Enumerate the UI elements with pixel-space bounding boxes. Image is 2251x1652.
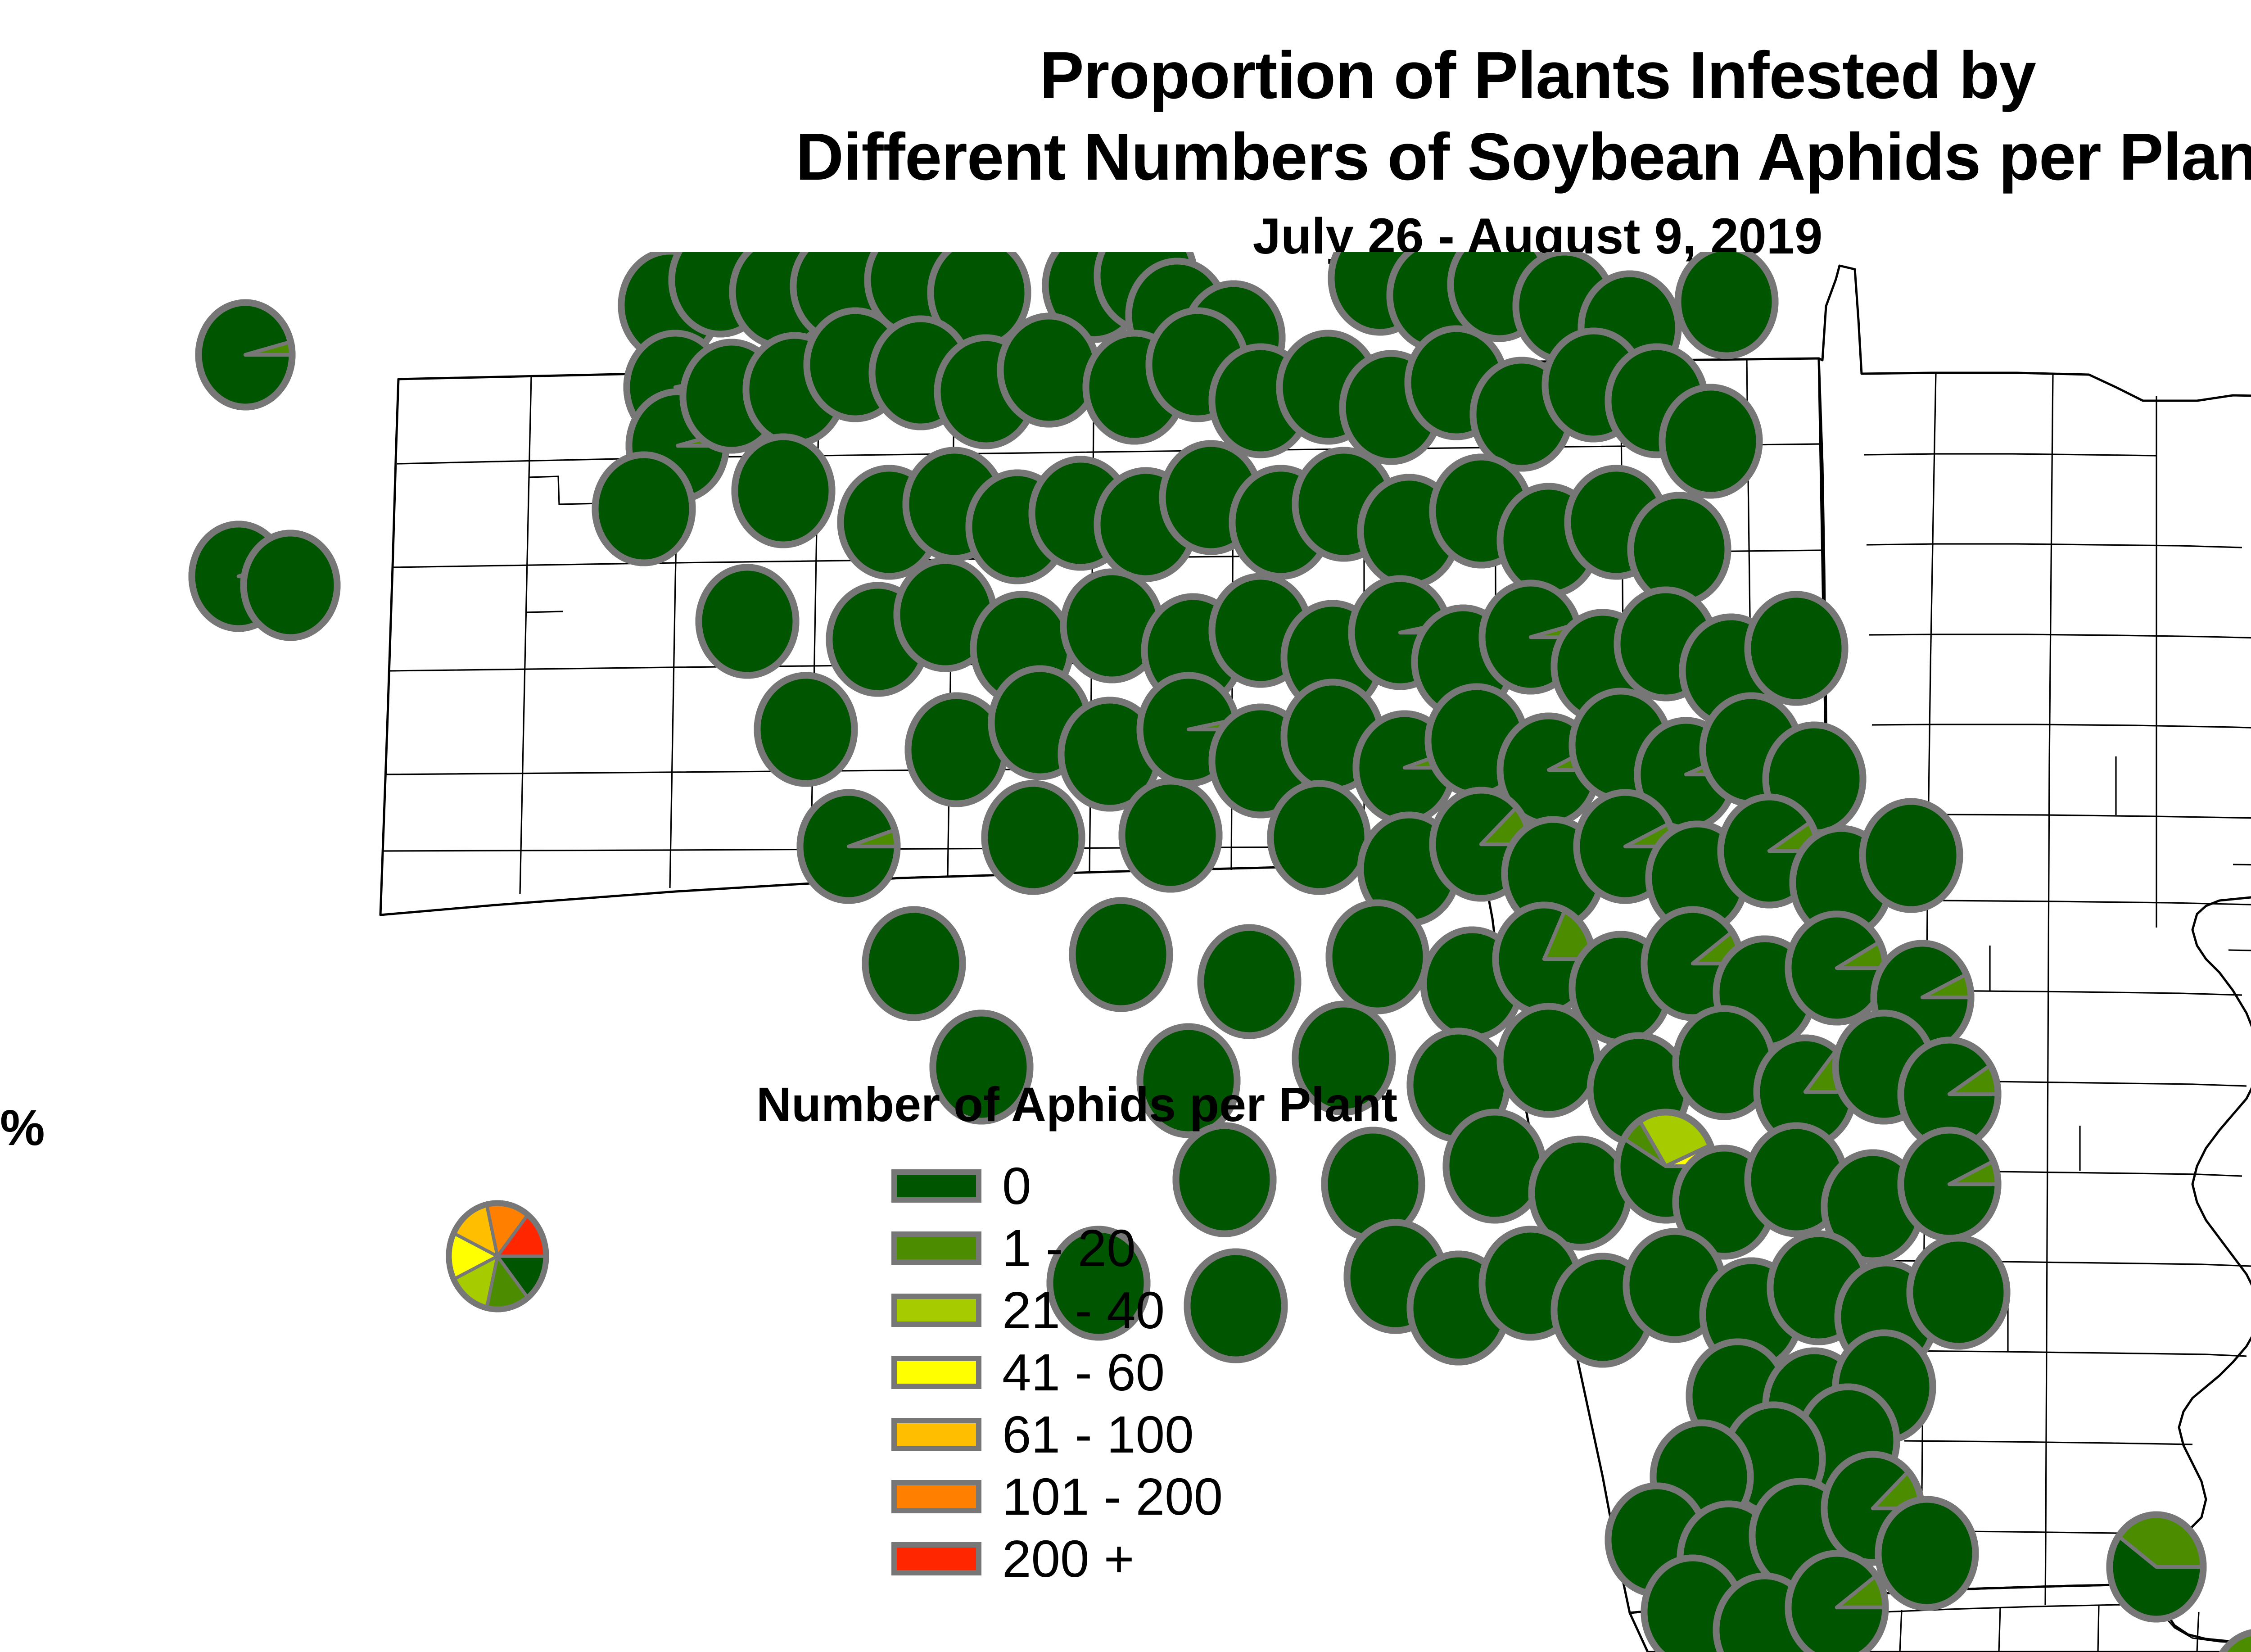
legend-swatch-1 — [891, 1231, 981, 1265]
legend-label-1: 1 - 20 — [1002, 1222, 1136, 1274]
legend-swatch-5 — [891, 1480, 981, 1513]
legend-swatch-4 — [891, 1418, 981, 1451]
legend-label-3: 41 - 60 — [1002, 1346, 1165, 1399]
legend-swatch-2 — [891, 1294, 981, 1327]
legend-swatch-6 — [891, 1542, 981, 1575]
legend-label-5: 101 - 200 — [1002, 1471, 1223, 1523]
legend-item[interactable]: 21 - 40 — [891, 1279, 1223, 1341]
legend-swatch-0 — [891, 1169, 981, 1203]
legend-label-6: 200 + — [1002, 1533, 1135, 1585]
legend-label-0: 0 — [1002, 1160, 1031, 1212]
legend-item[interactable]: 41 - 60 — [891, 1341, 1223, 1403]
legend-item[interactable]: 0 — [891, 1155, 1223, 1217]
legend-swatch-3 — [891, 1356, 981, 1389]
sample-pie-key — [441, 1200, 554, 1313]
legend-label-4: 61 - 100 — [1002, 1408, 1194, 1461]
chart-title: Proportion of Plants Infested by Differe… — [0, 35, 2251, 198]
legend-items-list: 0 1 - 20 21 - 40 41 - 60 61 - 100 101 - … — [891, 1155, 1223, 1590]
sample-pie-svg — [441, 1200, 554, 1313]
legend-item[interactable]: 1 - 20 — [891, 1217, 1223, 1279]
legend-item[interactable]: 200 + — [891, 1528, 1223, 1590]
percent-symbol-label: % — [0, 1099, 45, 1157]
title-line-1: Proportion of Plants Infested by — [0, 35, 2251, 117]
title-line-2: Different Numbers of Soybean Aphids per … — [0, 117, 2251, 198]
legend-heading: Number of Aphids per Plant — [756, 1076, 1397, 1132]
legend-item[interactable]: 101 - 200 — [891, 1466, 1223, 1528]
legend-item[interactable]: 61 - 100 — [891, 1403, 1223, 1466]
legend-label-2: 21 - 40 — [1002, 1284, 1165, 1336]
